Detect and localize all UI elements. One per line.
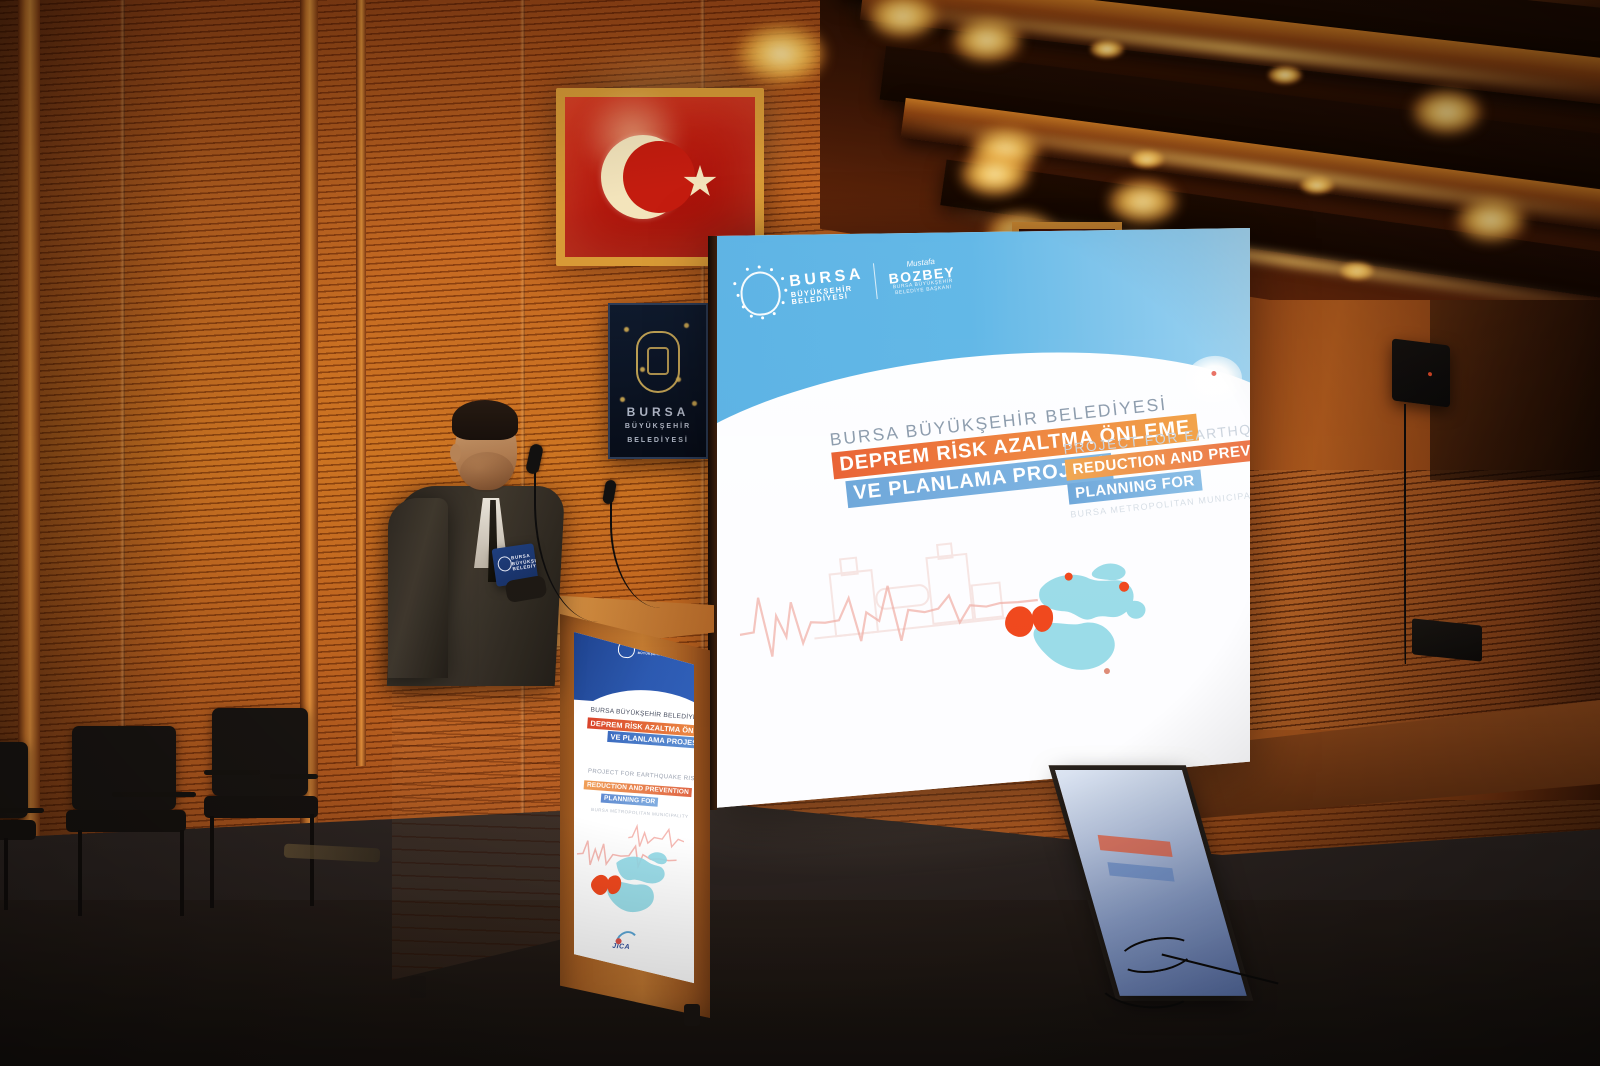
mayor-logo: Mustafa BOZBEY BURSA BÜYÜKŞEHİR BELEDİYE… — [884, 256, 959, 297]
chair-seat — [204, 796, 318, 818]
chair-leg — [210, 816, 214, 908]
podium-band-en-1: REDUCTION AND PREVENTION — [584, 780, 693, 797]
suit-shoulder-left — [388, 498, 448, 678]
podium-subtitle-en: BURSA METROPOLITAN MUNICIPALITY — [591, 807, 689, 819]
crescent-icon — [601, 135, 685, 219]
stage-floor-monitor-speaker — [1412, 618, 1482, 661]
chair-back — [212, 708, 308, 796]
speaker-face-shadow — [460, 452, 514, 492]
speaker-hair — [452, 400, 518, 440]
chair-leg — [78, 830, 82, 916]
plaque-line-1: BURSA — [610, 405, 706, 419]
ceiling-spotlight — [1268, 66, 1302, 84]
plaque-star-dot — [620, 397, 625, 402]
ceiling-spotlight — [1412, 90, 1482, 134]
slide-logo-text: BURSA BÜYÜKŞEHİR BELEDİYESİ — [789, 267, 867, 306]
ceiling-spotlight — [1090, 40, 1124, 58]
bursa-emblem-icon — [738, 269, 782, 317]
plaque-line-2: BÜYÜKŞEHİR — [610, 423, 706, 430]
wall-washer-light — [1108, 180, 1178, 224]
right-wall-slats — [1246, 470, 1600, 730]
chair-seat — [66, 810, 186, 832]
bursa-province-map — [974, 536, 1180, 715]
conference-hall-photo: BURSA BÜYÜKŞEHİR BELEDİYESİ — [0, 0, 1600, 1066]
plaque-line-3: BELEDİYESİ — [610, 437, 706, 444]
chair-seat — [0, 820, 36, 840]
speaker-power-led — [1428, 371, 1432, 375]
led-screen-surface: BURSA BÜYÜKŞEHİR BELEDİYESİ Mustafa BOZB… — [714, 228, 1250, 808]
chair-arm — [270, 774, 318, 779]
stage-front-edge — [0, 900, 1600, 1066]
bursa-shield-icon — [636, 331, 680, 393]
monitor-slide-band-blue — [1108, 862, 1175, 882]
logo-divider — [873, 263, 878, 299]
podium-jica-swoosh-icon — [614, 928, 637, 948]
podium-bursa-map — [582, 843, 679, 928]
chair-leg — [310, 814, 314, 906]
chair-arm — [204, 770, 260, 775]
led-presentation-screen[interactable]: BURSA BÜYÜKŞEHİR BELEDİYESİ Mustafa BOZB… — [714, 228, 1250, 808]
chair-back — [72, 726, 176, 810]
wall-mounted-speaker — [1392, 338, 1450, 407]
podium-eyebrow-en: PROJECT FOR EARTHQUAKE RISK — [588, 769, 694, 783]
chair-arm — [112, 792, 196, 797]
chair-leg — [180, 830, 184, 916]
press-flag-text: BURSA BÜYÜKŞEHİR BELEDİYESİ — [511, 550, 539, 572]
podium-band-en-2: PLANNING FOR — [601, 794, 659, 807]
chair-arm — [0, 808, 44, 813]
monitor-slide-band-red — [1097, 834, 1172, 857]
chair-back — [0, 742, 28, 818]
chair-leg — [4, 838, 8, 910]
podium-display[interactable]: BURSA BÜYÜKŞEHİR BELEDİYESİ BURSA BÜYÜKŞ… — [574, 632, 694, 994]
plaque-star-dot — [624, 327, 629, 332]
speaker-ear — [450, 444, 461, 462]
podium-display-content: BURSA BÜYÜKŞEHİR BELEDİYESİ BURSA BÜYÜKŞ… — [574, 632, 694, 994]
podium-caster — [684, 1004, 700, 1026]
wall-washer-light — [960, 152, 1030, 196]
emblem-ring — [738, 269, 782, 317]
bursa-municipality-plaque: BURSA BÜYÜKŞEHİR BELEDİYESİ — [608, 303, 708, 459]
plaque-star-dot — [684, 323, 689, 328]
podium-caster — [410, 976, 426, 998]
speaker-cable — [1404, 404, 1406, 664]
